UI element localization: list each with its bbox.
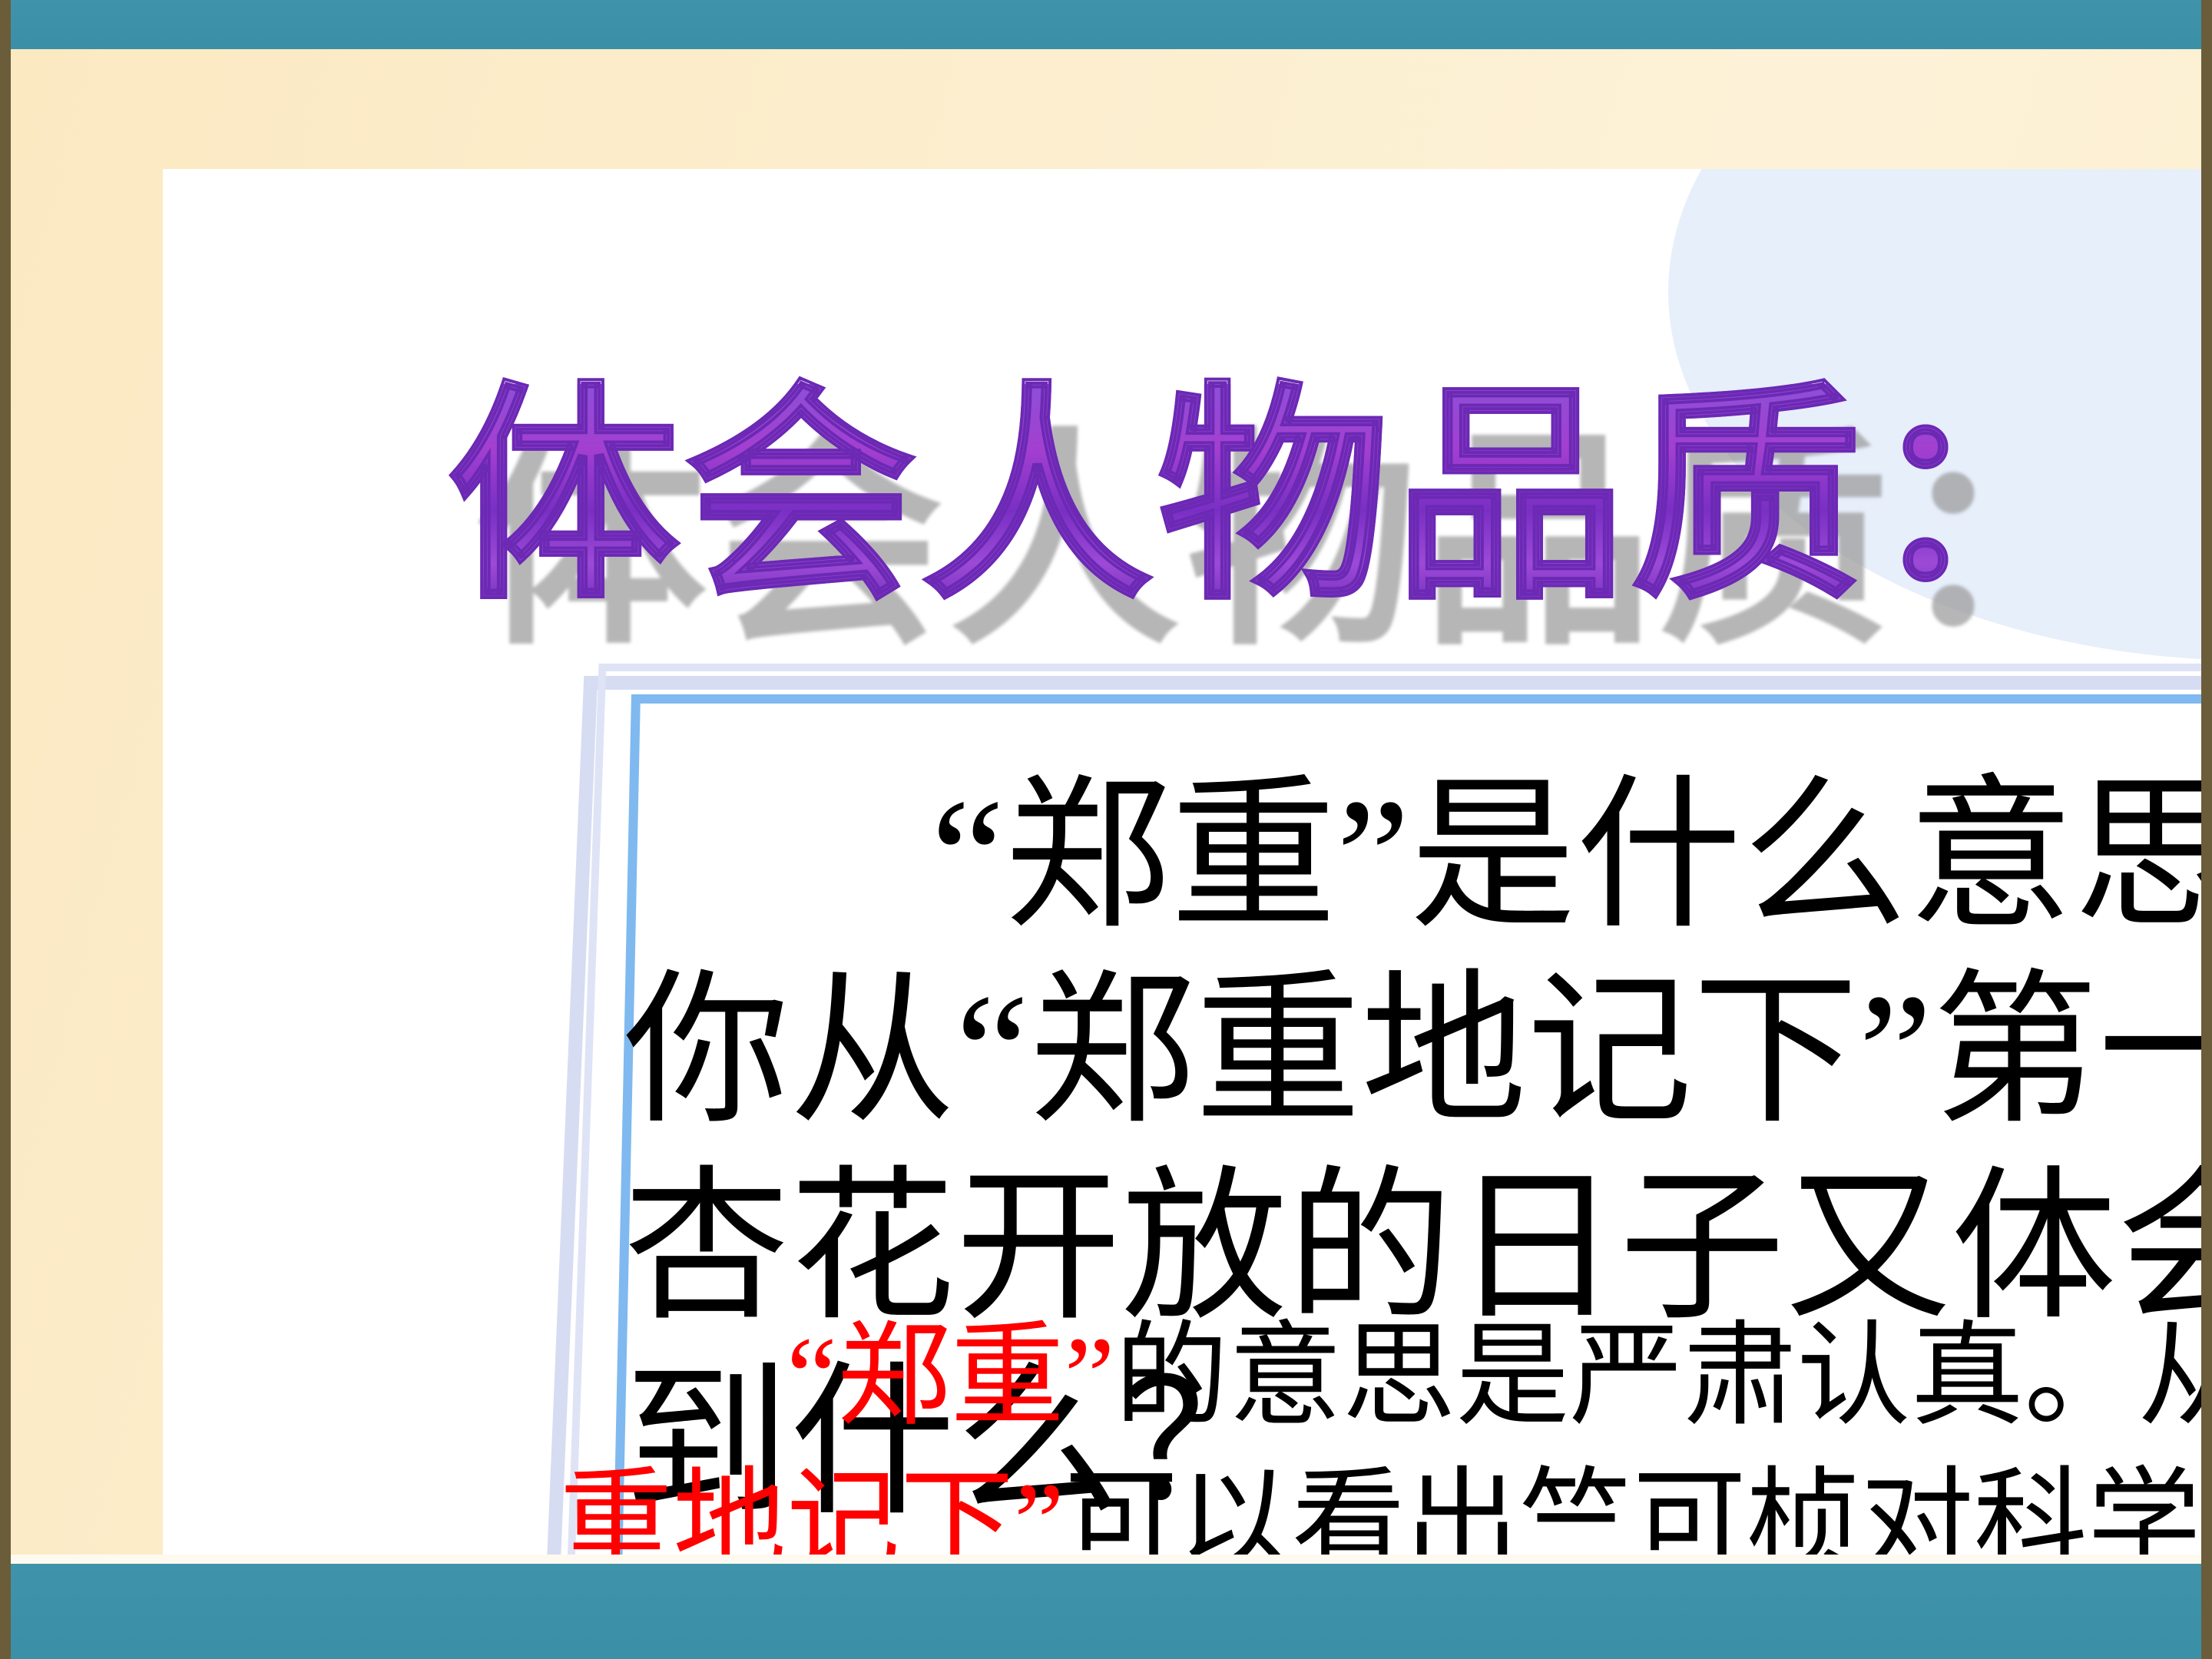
answer-highlight-1: “郑重” (786, 1315, 1114, 1441)
cream-inner-highlight (11, 1555, 2212, 1564)
slide-title-text: 体会人物品质： (449, 384, 2104, 614)
answer-plain-1: 的意思是严肃认真。从 (1114, 1315, 2212, 1441)
slide: 体会人物品质： 体会人物品质： “郑重”是什么意思？你从“郑重地记下”第一朵杏花… (0, 0, 2212, 1659)
left-edge-strip (0, 0, 11, 1659)
top-teal-band (0, 0, 2212, 49)
right-edge-strip (2201, 0, 2212, 1659)
slide-canvas: 体会人物品质： 体会人物品质： “郑重”是什么意思？你从“郑重地记下”第一朵杏花… (163, 169, 2212, 1659)
bottom-teal-band (0, 1564, 2212, 1659)
